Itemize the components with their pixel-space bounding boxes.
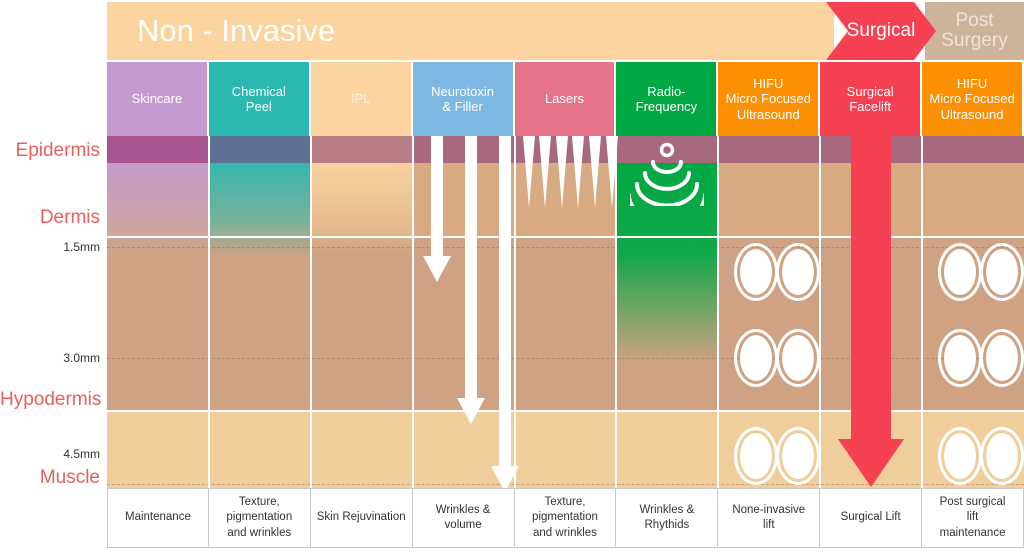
- indication-cell-radio-frequency[interactable]: Wrinkles &Rhythids: [616, 488, 718, 548]
- depth-tint-skincare: [107, 163, 209, 257]
- laser-cone-icon: [523, 136, 535, 208]
- depth-tick-3-0mm: 3.0mm: [0, 352, 100, 364]
- indication-cell-neurotoxin[interactable]: Wrinkles &volume: [413, 488, 515, 548]
- column-separator: [208, 136, 210, 513]
- treatment-header-chemical-peel[interactable]: ChemicalPeel: [209, 62, 311, 136]
- focal-point-icon: [944, 433, 976, 479]
- treatment-depth-diagram: Non - Invasive Post Surgery Surgical Ski…: [0, 0, 1024, 558]
- laser-cone-icon: [589, 136, 601, 208]
- banner-post-surgery: Post Surgery: [925, 2, 1024, 60]
- down-arrow-icon: [423, 256, 451, 282]
- treatment-header-surgical-facelift[interactable]: SurgicalFacelift: [820, 62, 922, 136]
- injection-depth-line-3: [499, 136, 511, 466]
- column-separator: [819, 136, 821, 513]
- treatment-header-hifu-2[interactable]: HIFUMicro FocusedUltrasound: [922, 62, 1024, 136]
- treatment-header-hifu-1[interactable]: HIFUMicro FocusedUltrasound: [718, 62, 820, 136]
- surgical-depth-bar: [851, 136, 891, 439]
- depth-tint-chemical-peel: [209, 163, 311, 257]
- treatment-header-radio-frequency[interactable]: Radio-Frequency: [616, 62, 718, 136]
- indication-cell-hifu-2[interactable]: Post surgicalliftmaintenance: [922, 488, 1024, 548]
- column-separator: [717, 136, 719, 513]
- axis-label-muscle: Muscle: [0, 468, 100, 487]
- indication-cell-skincare[interactable]: Maintenance: [107, 488, 209, 548]
- laser-cone-icon: [539, 136, 551, 208]
- column-separator: [615, 136, 617, 513]
- axis-label-hypodermis: Hypodermis: [0, 390, 100, 409]
- depth-tick-1-5mm: 1.5mm: [0, 241, 100, 253]
- axis-label-dermis: Dermis: [0, 208, 100, 227]
- banner-surgical-label: Surgical: [847, 20, 916, 42]
- treatment-header-skincare[interactable]: Skincare: [107, 62, 209, 136]
- indication-cell-lasers[interactable]: Texture,pigmentationand wrinkles: [515, 488, 617, 548]
- column-separator: [412, 136, 414, 513]
- treatment-header-neurotoxin[interactable]: Neurotoxin& Filler: [413, 62, 515, 136]
- focal-point-icon: [986, 249, 1018, 295]
- depth-tint-ipl: [311, 163, 413, 257]
- surgical-down-arrow-icon: [838, 439, 904, 487]
- radio-waves-icon: [630, 140, 704, 206]
- indication-cell-hifu-1[interactable]: None-invasivelift: [718, 488, 820, 548]
- banner-non-invasive: Non - Invasive: [107, 2, 834, 60]
- banner-post-surgery-label: Post Surgery: [925, 11, 1024, 51]
- column-separator: [921, 136, 923, 513]
- focal-point-icon: [944, 249, 976, 295]
- axis-label-epidermis: Epidermis: [0, 141, 100, 160]
- indication-cell-ipl[interactable]: Skin Rejuvination: [311, 488, 413, 548]
- indication-cell-surgical-facelift[interactable]: Surgical Lift: [820, 488, 922, 548]
- injection-depth-line-2: [465, 136, 477, 398]
- indication-cell-chemical-peel[interactable]: Texture,pigmentationand wrinkles: [209, 488, 311, 548]
- column-separator: [310, 136, 312, 513]
- epidermis-tint-skincare: [107, 136, 209, 163]
- focal-point-icon: [986, 433, 1018, 479]
- focal-point-icon: [986, 335, 1018, 381]
- banner-surgical: Surgical: [826, 2, 936, 60]
- injection-depth-line-1: [431, 136, 443, 256]
- laser-cone-icon: [556, 136, 568, 208]
- epidermis-tint-chemical-peel: [209, 136, 311, 163]
- treatment-header-ipl[interactable]: IPL: [311, 62, 413, 136]
- down-arrow-icon: [457, 398, 485, 424]
- laser-cone-icon: [572, 136, 584, 208]
- treatment-header-lasers[interactable]: Lasers: [515, 62, 617, 136]
- banner-non-invasive-label: Non - Invasive: [137, 13, 335, 49]
- column-separator: [514, 136, 516, 513]
- epidermis-tint-ipl: [311, 136, 413, 163]
- depth-tick-4-5mm: 4.5mm: [0, 448, 100, 460]
- focal-point-icon: [944, 335, 976, 381]
